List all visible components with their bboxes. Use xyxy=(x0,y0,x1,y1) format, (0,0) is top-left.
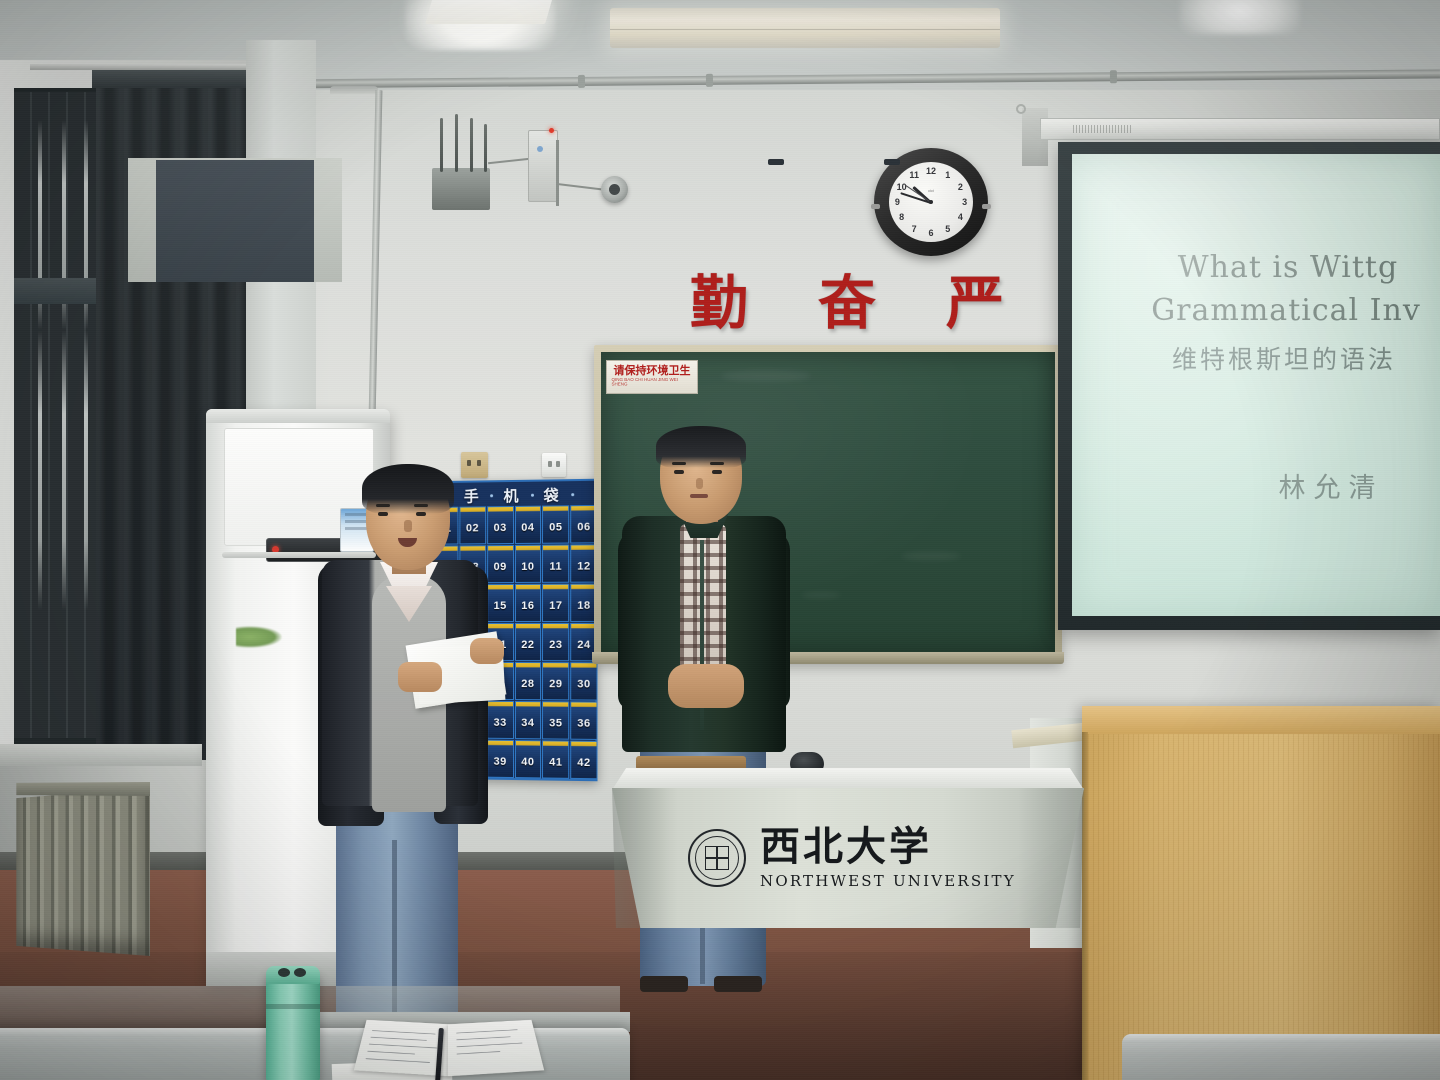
light-seam xyxy=(610,29,1000,30)
classroom-photo: cici 12 1 2 3 4 5 6 7 8 9 10 11 勤 奋 严 谨 xyxy=(0,0,1440,1080)
motto-char-3: 严 xyxy=(946,256,1010,340)
wire xyxy=(556,140,559,206)
radiator xyxy=(16,788,150,956)
clock-number: 1 xyxy=(945,170,950,180)
phone-pocket-17[interactable]: 17 xyxy=(542,584,569,622)
window-sill xyxy=(0,744,202,766)
power-outlet-beige[interactable] xyxy=(461,452,488,478)
projection-screen[interactable]: What is Wittg Grammatical Inv 维特根斯坦的语法 林… xyxy=(1072,154,1440,616)
outlet-slot xyxy=(548,461,552,467)
desk-edge xyxy=(1122,1034,1440,1043)
presenter-eyebrow xyxy=(710,462,724,465)
signal-jammer-icon xyxy=(432,168,490,210)
presenter-hair xyxy=(656,426,746,468)
thermos-hole xyxy=(294,968,306,977)
presenter-eyebrow xyxy=(672,462,686,465)
motto-char-2: 奋 xyxy=(818,256,882,340)
phone-pocket-40[interactable]: 40 xyxy=(514,740,541,778)
handwriting-line xyxy=(365,1058,429,1063)
slide-author: 林允清 xyxy=(1279,466,1384,505)
phone-pocket-chart-title: 手 机 袋 xyxy=(430,483,596,507)
blind-light-gap xyxy=(38,330,42,610)
phone-pocket-05[interactable]: 05 xyxy=(542,505,569,543)
podium-base-panel xyxy=(156,160,314,282)
phone-pocket-34[interactable]: 34 xyxy=(514,701,541,739)
phone-pocket-35[interactable]: 35 xyxy=(542,701,569,739)
clock-number: 12 xyxy=(926,166,936,176)
thermos-seam xyxy=(266,1004,320,1009)
clock-number: 5 xyxy=(945,224,950,234)
clock-number: 7 xyxy=(912,224,917,234)
podium-top-surface xyxy=(612,768,1084,790)
front-desk-right xyxy=(1122,1034,1440,1080)
phone-pocket-33[interactable]: 33 xyxy=(487,701,514,739)
wooden-console-top xyxy=(1082,706,1440,734)
antenna-icon xyxy=(440,118,443,172)
podium-name-block: 西北大学 NORTHWEST UNIVERSITY xyxy=(760,827,1016,890)
clock-center-pin xyxy=(929,200,933,204)
speaker-left-hand xyxy=(398,662,442,692)
handwriting-line xyxy=(456,1029,517,1033)
phone-chart-char-3: 袋 xyxy=(544,484,561,505)
presenter-clasped-hands xyxy=(668,664,744,708)
handwriting-line xyxy=(457,1043,523,1048)
phone-pocket-30[interactable]: 30 xyxy=(570,662,597,700)
podium-name-chinese: 西北大学 xyxy=(760,827,1016,867)
clock-number: 4 xyxy=(958,212,963,222)
phone-pocket-03[interactable]: 03 xyxy=(487,506,514,544)
clock-number: 6 xyxy=(928,228,933,238)
chalk-smudge xyxy=(901,552,961,560)
fluorescent-light-fixture-center xyxy=(610,8,1000,48)
power-box[interactable] xyxy=(528,130,558,202)
podium-branding: 西北大学 NORTHWEST UNIVERSITY xyxy=(688,820,1018,896)
title-dot xyxy=(491,494,494,497)
open-notebook[interactable] xyxy=(355,1022,542,1064)
ceiling-light-glare-right xyxy=(1180,0,1300,34)
handwriting-line xyxy=(457,1051,501,1055)
projection-screen-frame: What is Wittg Grammatical Inv 维特根斯坦的语法 林… xyxy=(1058,142,1440,630)
speaker-eyebrow xyxy=(376,504,390,507)
clock-number: 11 xyxy=(909,170,919,180)
phone-pocket-41[interactable]: 41 xyxy=(542,740,569,779)
chalk-smudge xyxy=(721,370,811,382)
thermos-cap-holes xyxy=(278,968,308,978)
outlet-slot xyxy=(467,460,471,466)
projection-screen-housing xyxy=(1040,118,1440,140)
conduit-horizontal xyxy=(330,86,378,94)
clock-face: cici 12 1 2 3 4 5 6 7 8 9 10 11 xyxy=(889,162,973,242)
notice-line-1: 请保持环境卫生 xyxy=(614,366,691,378)
phone-pocket-02[interactable]: 02 xyxy=(459,506,486,544)
podium-hinge xyxy=(768,159,784,165)
antenna-icon xyxy=(470,118,473,172)
slide-title-chinese: 维特根斯坦的语法 xyxy=(1172,340,1396,376)
housing-label xyxy=(1073,125,1133,133)
wall-hook-icon xyxy=(1016,104,1026,114)
presenter-shoe xyxy=(640,976,688,992)
phone-pocket-22[interactable]: 22 xyxy=(514,623,541,661)
podium-right-bevel xyxy=(1018,788,1084,928)
speaker-eye xyxy=(378,512,388,516)
pipe-joint xyxy=(578,75,585,88)
clock-number: 3 xyxy=(962,197,967,207)
speaker-eyebrow xyxy=(414,504,428,507)
clock-number: 9 xyxy=(895,197,900,207)
speaker-right-hand xyxy=(470,638,504,664)
thermos-flask[interactable] xyxy=(266,970,320,1080)
phone-pocket-29[interactable]: 29 xyxy=(542,662,569,700)
notice-line-2: QING BAO CHI HUAN JING WEI SHENG xyxy=(612,378,693,387)
antenna-icon xyxy=(455,114,458,172)
radiator-top xyxy=(16,782,150,796)
blind-light-gap xyxy=(84,330,88,610)
podium-left-bevel xyxy=(612,788,678,928)
clock-number: 10 xyxy=(897,182,907,192)
outlet-slot xyxy=(556,461,560,467)
presenter-mouth xyxy=(690,494,708,498)
presenter-shoe xyxy=(714,976,762,992)
phone-pocket-28[interactable]: 28 xyxy=(514,662,541,700)
phone-pocket-09[interactable]: 09 xyxy=(487,545,514,583)
clock-mount xyxy=(871,204,880,209)
outlet-slot xyxy=(477,460,481,466)
handwriting-line xyxy=(372,1030,436,1034)
clock-number: 8 xyxy=(899,212,904,222)
podium-name-english: NORTHWEST UNIVERSITY xyxy=(760,872,1016,890)
presenter-eye xyxy=(712,470,722,474)
handwriting-line xyxy=(370,1037,426,1041)
phone-pocket-36[interactable]: 36 xyxy=(570,701,597,740)
speaker-eye xyxy=(416,512,426,516)
pipe-joint xyxy=(706,74,713,87)
power-led-icon xyxy=(549,128,554,133)
wood-grain-texture xyxy=(1088,734,1440,1080)
notebook-page-right xyxy=(448,1020,544,1077)
phone-pocket-04[interactable]: 04 xyxy=(514,506,541,544)
title-dot xyxy=(571,493,574,496)
air-conditioner-vent xyxy=(222,552,376,558)
clock-brand: cici xyxy=(928,188,934,193)
phone-pocket-11[interactable]: 11 xyxy=(542,545,569,583)
podium-hinge xyxy=(884,159,900,165)
handwriting-line xyxy=(456,1036,510,1040)
blind-light-gap xyxy=(62,330,66,610)
ceiling-sensor-icon xyxy=(601,176,628,203)
lectern-podium: 西北大学 NORTHWEST UNIVERSITY xyxy=(612,768,1084,944)
phone-pocket-10[interactable]: 10 xyxy=(514,545,541,583)
power-outlet-white[interactable] xyxy=(542,453,566,477)
presenter-nose xyxy=(696,478,703,489)
phone-pocket-16[interactable]: 16 xyxy=(514,584,541,622)
title-dot xyxy=(530,493,533,496)
air-conditioner-top xyxy=(206,409,390,423)
speaker-nose xyxy=(404,520,412,532)
motto-char-1: 勤 xyxy=(690,256,754,340)
phone-pocket-39[interactable]: 39 xyxy=(487,740,514,778)
pipe-joint xyxy=(1110,70,1117,83)
clock-number: 2 xyxy=(958,182,963,192)
phone-chart-char-2: 机 xyxy=(504,484,521,505)
clock-mount xyxy=(982,204,991,209)
slide-content: What is Wittg Grammatical Inv 维特根斯坦的语法 林… xyxy=(1072,154,1440,616)
handwriting-line xyxy=(369,1044,437,1049)
plant-leaf xyxy=(236,626,282,648)
antenna-icon xyxy=(484,124,487,172)
slide-title-line-1: What is Wittg xyxy=(1178,250,1398,285)
blackboard-notice-sign: 请保持环境卫生 QING BAO CHI HUAN JING WEI SHENG xyxy=(606,360,698,394)
phone-pocket-42[interactable]: 42 xyxy=(570,741,597,780)
curtain-rod xyxy=(30,64,270,70)
chalk-smudge xyxy=(801,592,841,598)
phone-pocket-23[interactable]: 23 xyxy=(542,623,569,661)
thermos-hole xyxy=(278,968,290,977)
phone-chart-char-1: 手 xyxy=(464,485,481,506)
presenter-eye xyxy=(674,470,684,474)
phone-pocket-15[interactable]: 15 xyxy=(487,584,514,622)
university-seal-icon xyxy=(688,829,746,887)
slide-title-line-2: Grammatical Inv xyxy=(1151,293,1421,328)
handwriting-line xyxy=(367,1051,415,1055)
power-indicator-icon xyxy=(537,146,543,152)
fluorescent-light-fixture-left xyxy=(425,0,555,24)
